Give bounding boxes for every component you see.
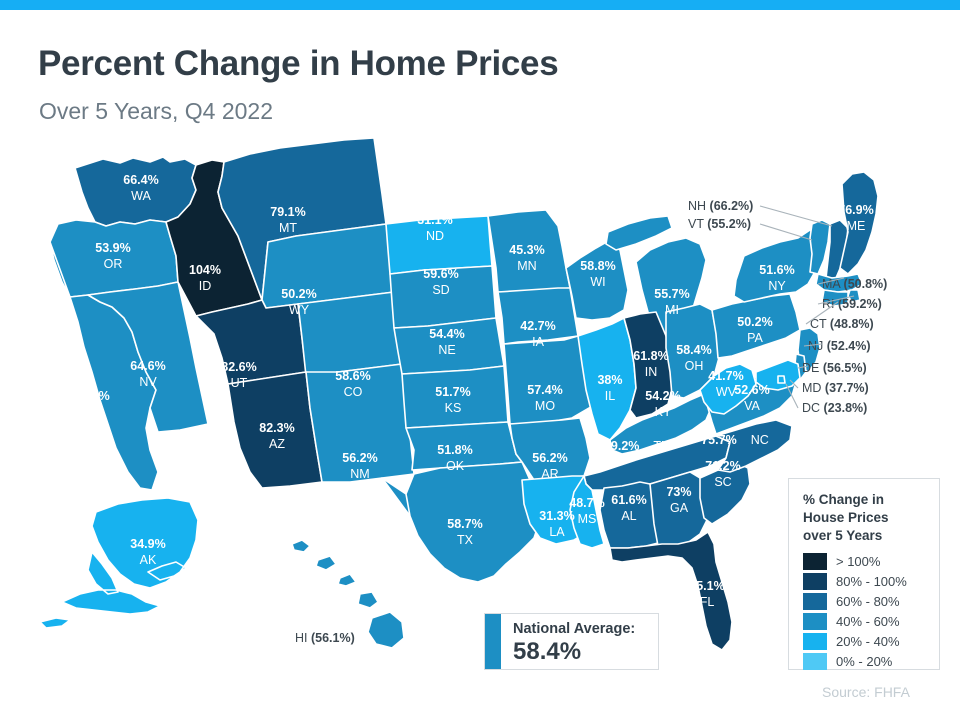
- svg-text:51.6%: 51.6%: [759, 263, 794, 277]
- svg-text:MD (37.7%): MD (37.7%): [802, 381, 869, 395]
- svg-text:76.9%: 76.9%: [838, 203, 873, 217]
- svg-text:IL: IL: [605, 389, 615, 403]
- svg-text:54.4%: 54.4%: [429, 327, 464, 341]
- svg-text:MA (50.8%): MA (50.8%): [822, 277, 887, 291]
- svg-text:DC (23.8%): DC (23.8%): [802, 401, 867, 415]
- svg-text:SC: SC: [714, 475, 731, 489]
- svg-text:IN: IN: [645, 365, 658, 379]
- svg-text:IA: IA: [532, 335, 544, 349]
- svg-text:MS: MS: [578, 512, 597, 526]
- svg-text:42.7%: 42.7%: [520, 319, 555, 333]
- svg-text:61.6%: 61.6%: [611, 493, 646, 507]
- svg-text:NE: NE: [438, 343, 455, 357]
- svg-text:MI: MI: [665, 303, 679, 317]
- national-average-label: National Average:: [513, 621, 635, 638]
- callout-MA: MA (50.8%): [818, 277, 887, 291]
- svg-text:GA: GA: [670, 501, 689, 515]
- legend-label: 0% - 20%: [836, 654, 892, 669]
- legend-item[interactable]: > 100%: [803, 553, 927, 570]
- svg-text:HI (56.1%): HI (56.1%): [295, 631, 355, 645]
- svg-text:NH (66.2%): NH (66.2%): [688, 199, 753, 213]
- svg-text:KY: KY: [655, 405, 672, 419]
- svg-text:58.8%: 58.8%: [580, 259, 615, 273]
- svg-text:45.3%: 45.3%: [509, 243, 544, 257]
- svg-text:NV: NV: [139, 375, 157, 389]
- legend-item[interactable]: 80% - 100%: [803, 573, 927, 590]
- state-AK[interactable]: [40, 498, 198, 628]
- svg-text:79.2%TN: 79.2%TN: [604, 439, 670, 453]
- legend-label: 80% - 100%: [836, 574, 907, 589]
- state-label-NC: 75.7%NC: [701, 433, 769, 447]
- legend-item[interactable]: 60% - 80%: [803, 593, 927, 610]
- legend-label: 60% - 80%: [836, 594, 900, 609]
- legend-item[interactable]: 20% - 40%: [803, 633, 927, 650]
- svg-text:82.6%: 82.6%: [221, 360, 256, 374]
- svg-text:WV: WV: [716, 385, 737, 399]
- svg-text:75.7%NC: 75.7%NC: [701, 433, 769, 447]
- legend-swatch: [803, 653, 827, 670]
- legend-swatch: [803, 633, 827, 650]
- svg-text:MN: MN: [517, 259, 536, 273]
- svg-text:ND: ND: [426, 229, 444, 243]
- svg-text:ID: ID: [199, 279, 212, 293]
- svg-text:57.4%: 57.4%: [527, 383, 562, 397]
- legend-title: % Change in House Prices over 5 Years: [803, 491, 927, 545]
- svg-text:OH: OH: [685, 359, 704, 373]
- legend-title-line-1: % Change in: [803, 491, 927, 509]
- svg-text:FL: FL: [700, 595, 715, 609]
- svg-text:TX: TX: [457, 533, 474, 547]
- state-DC[interactable]: [778, 376, 785, 383]
- svg-text:31.1%: 31.1%: [417, 213, 452, 227]
- svg-text:56.2%: 56.2%: [532, 451, 567, 465]
- svg-text:38%: 38%: [597, 373, 622, 387]
- svg-text:LA: LA: [549, 525, 565, 539]
- svg-text:64.6%: 64.6%: [130, 359, 165, 373]
- svg-text:AR: AR: [541, 467, 558, 481]
- national-average-value: 58.4%: [513, 638, 635, 666]
- svg-text:55.7%: 55.7%: [654, 287, 689, 301]
- svg-text:VT (55.2%): VT (55.2%): [688, 217, 751, 231]
- callout-MD: MD (37.7%): [790, 380, 869, 395]
- national-average-box: National Average: 58.4%: [484, 613, 659, 670]
- svg-text:50.2%: 50.2%: [281, 287, 316, 301]
- svg-text:CT (48.8%): CT (48.8%): [810, 317, 874, 331]
- svg-text:CA: CA: [83, 405, 101, 419]
- svg-text:41.7%: 41.7%: [708, 369, 743, 383]
- svg-text:MO: MO: [535, 399, 555, 413]
- svg-text:WY: WY: [289, 303, 310, 317]
- top-accent-bar: [0, 0, 960, 10]
- page-subtitle: Over 5 Years, Q4 2022: [39, 98, 273, 125]
- svg-text:73%: 73%: [666, 485, 691, 499]
- svg-text:CO: CO: [344, 385, 363, 399]
- map-legend: % Change in House Prices over 5 Years > …: [788, 478, 940, 670]
- svg-text:58.4%: 58.4%: [676, 343, 711, 357]
- svg-text:DE (56.5%): DE (56.5%): [802, 361, 867, 375]
- svg-text:VA: VA: [744, 399, 760, 413]
- svg-text:52.6%: 52.6%: [734, 383, 769, 397]
- legend-label: 40% - 60%: [836, 614, 900, 629]
- legend-swatch: [803, 613, 827, 630]
- svg-text:85.1%: 85.1%: [689, 579, 724, 593]
- callout-HI: HI (56.1%): [295, 631, 355, 645]
- svg-text:104%: 104%: [189, 263, 221, 277]
- svg-text:61.8%: 61.8%: [633, 349, 668, 363]
- callout-DE: DE (56.5%): [798, 361, 867, 375]
- national-average-accent-bar: [485, 614, 501, 669]
- legend-title-line-2: House Prices: [803, 509, 927, 527]
- svg-text:AZ: AZ: [269, 437, 285, 451]
- svg-text:AL: AL: [621, 509, 636, 523]
- svg-text:RI (59.2%): RI (59.2%): [822, 297, 882, 311]
- svg-text:NJ (52.4%): NJ (52.4%): [808, 339, 871, 353]
- state-label-TN: 79.2%TN: [604, 439, 670, 453]
- svg-text:50.1%: 50.1%: [74, 389, 109, 403]
- source-note: Source: FHFA: [822, 684, 910, 700]
- svg-text:54.2%: 54.2%: [645, 389, 680, 403]
- svg-text:UT: UT: [231, 376, 248, 390]
- legend-label: > 100%: [836, 554, 880, 569]
- legend-swatch: [803, 593, 827, 610]
- svg-text:KS: KS: [445, 401, 462, 415]
- svg-text:SD: SD: [432, 283, 449, 297]
- state-CO[interactable]: [298, 292, 402, 376]
- svg-text:WA: WA: [131, 189, 151, 203]
- svg-text:OR: OR: [104, 257, 123, 271]
- svg-text:ME: ME: [847, 219, 866, 233]
- svg-text:58.7%: 58.7%: [447, 517, 482, 531]
- svg-text:PA: PA: [747, 331, 763, 345]
- svg-text:66.4%: 66.4%: [123, 173, 158, 187]
- svg-text:NY: NY: [768, 279, 786, 293]
- legend-rows: > 100%80% - 100%60% - 80%40% - 60%20% - …: [803, 553, 927, 670]
- svg-text:WI: WI: [590, 275, 605, 289]
- legend-label: 20% - 40%: [836, 634, 900, 649]
- svg-text:50.2%: 50.2%: [737, 315, 772, 329]
- svg-text:34.9%: 34.9%: [130, 537, 165, 551]
- svg-text:79.1%: 79.1%: [270, 205, 305, 219]
- svg-text:59.6%: 59.6%: [423, 267, 458, 281]
- legend-title-line-3: over 5 Years: [803, 527, 927, 545]
- svg-text:48.7%: 48.7%: [569, 496, 604, 510]
- legend-item[interactable]: 0% - 20%: [803, 653, 927, 670]
- svg-text:MT: MT: [279, 221, 297, 235]
- svg-text:AK: AK: [140, 553, 157, 567]
- svg-text:56.2%: 56.2%: [342, 451, 377, 465]
- svg-text:82.3%: 82.3%: [259, 421, 294, 435]
- page-title: Percent Change in Home Prices: [38, 44, 558, 84]
- legend-item[interactable]: 40% - 60%: [803, 613, 927, 630]
- svg-text:53.9%: 53.9%: [95, 241, 130, 255]
- svg-text:31.3%: 31.3%: [539, 509, 574, 523]
- legend-swatch: [803, 573, 827, 590]
- callout-VT: VT (55.2%): [688, 217, 812, 240]
- legend-swatch: [803, 553, 827, 570]
- svg-text:51.8%: 51.8%: [437, 443, 472, 457]
- svg-text:71.2%: 71.2%: [705, 459, 740, 473]
- callout-NJ: NJ (52.4%): [804, 339, 871, 353]
- svg-text:NM: NM: [350, 467, 369, 481]
- svg-text:58.6%: 58.6%: [335, 369, 370, 383]
- svg-text:OK: OK: [446, 459, 465, 473]
- svg-text:51.7%: 51.7%: [435, 385, 470, 399]
